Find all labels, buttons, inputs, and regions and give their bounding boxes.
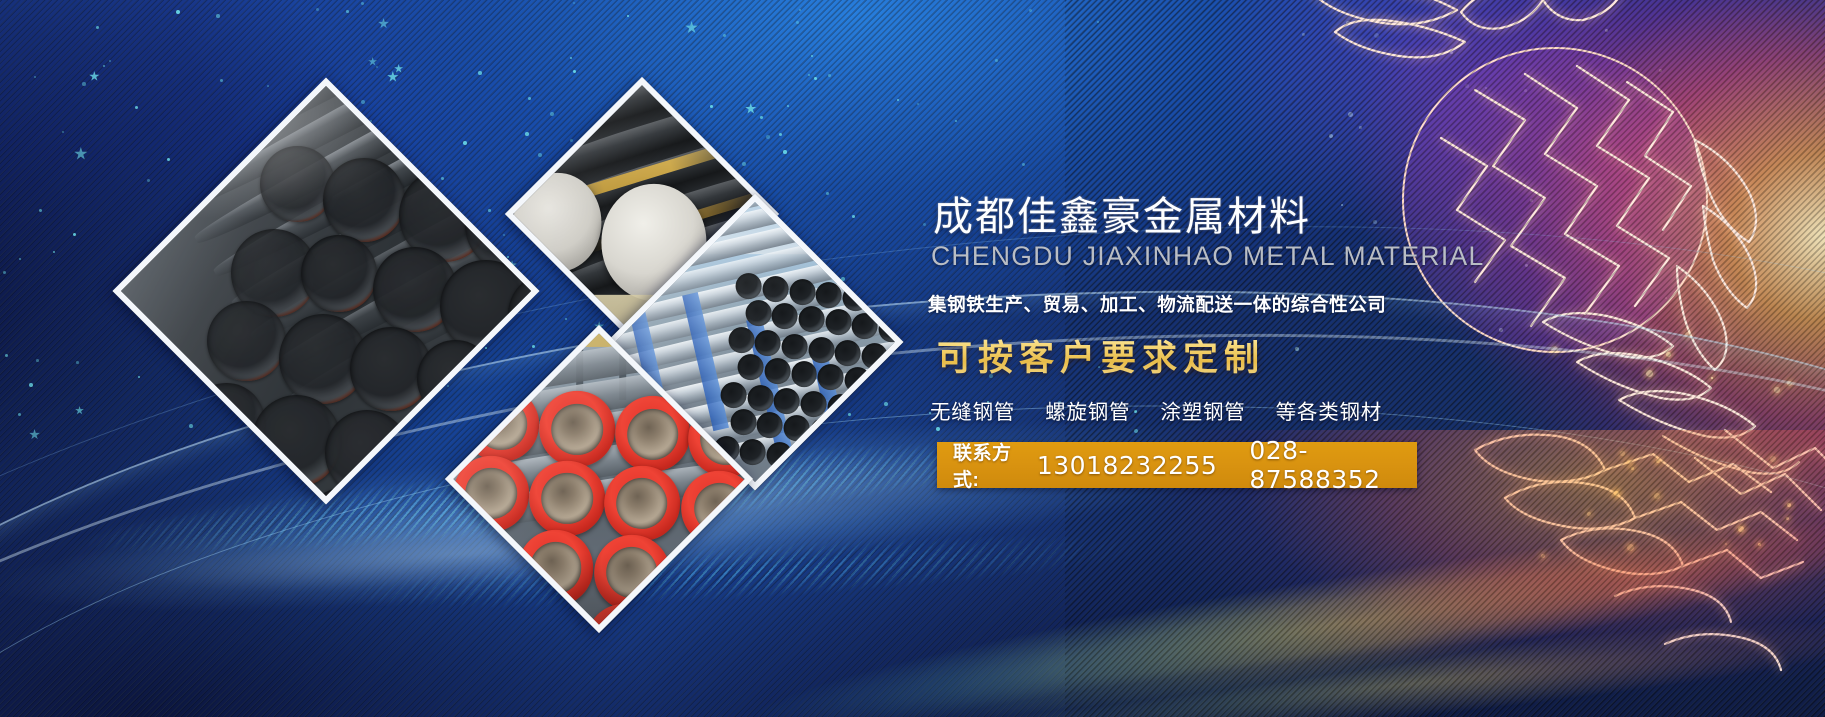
product-item: 涂塑钢管	[1160, 395, 1245, 425]
contact-label: 联系方式:	[953, 438, 1028, 492]
company-tagline: 集钢铁生产、贸易、加工、物流配送一体的综合性公司	[928, 291, 1485, 317]
company-name-cn: 成都佳鑫豪金属材料	[933, 196, 1485, 239]
custom-order-headline: 可按客户要求定制	[937, 330, 1485, 381]
product-item: 无缝钢管	[930, 395, 1015, 425]
phone-mobile[interactable]: 13018232255	[1037, 451, 1217, 480]
product-item: 螺旋钢管	[1045, 395, 1130, 425]
product-item: 等各类钢材	[1276, 395, 1383, 425]
product-photo-collage	[150, 105, 890, 625]
photo-seamless-steel-pipe-stack	[112, 77, 539, 504]
product-list: 无缝钢管 螺旋钢管 涂塑钢管 等各类钢材	[930, 395, 1485, 425]
phone-landline[interactable]: 028-87588352	[1249, 436, 1417, 494]
company-name-en: CHENGDU JIAXINHAO METAL MATERIAL	[931, 241, 1485, 272]
banner-text-block: 成都佳鑫豪金属材料 CHENGDU JIAXINHAO METAL MATERI…	[925, 196, 1485, 488]
contact-bar: 联系方式: 13018232255 028-87588352	[937, 442, 1417, 488]
promo-banner: 成都佳鑫豪金属材料 CHENGDU JIAXINHAO METAL MATERI…	[0, 0, 1825, 717]
photo-art	[112, 77, 539, 504]
